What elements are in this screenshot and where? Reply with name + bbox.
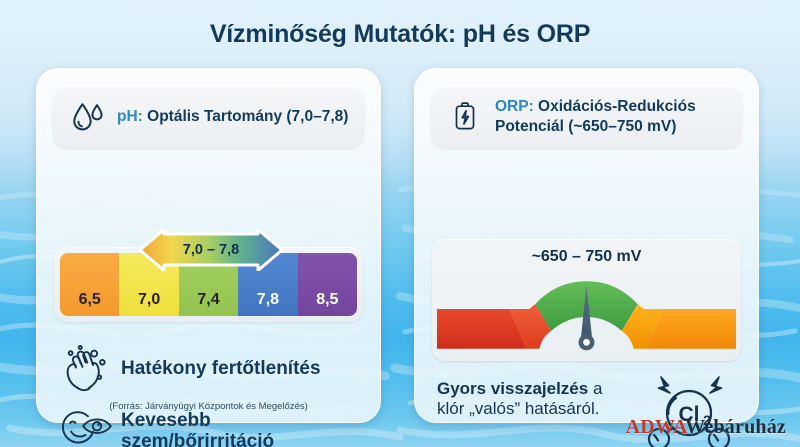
orp-note: Gyors visszajelzés a klór „valós” hatásá… — [437, 379, 632, 420]
page-title: Vízminőség Mutatók: pH és ORP — [0, 20, 800, 49]
list-item: Hatékony fertőtlenítés — [57, 343, 366, 395]
battery-bolt-icon — [445, 96, 485, 138]
orp-note-bold: Gyors visszajelzés — [437, 379, 588, 398]
ph-segment-label: 6,5 — [79, 291, 101, 309]
ph-segment-label: 7,4 — [197, 291, 219, 309]
orp-gauge-label: ~650 – 750 mV — [432, 248, 741, 266]
ph-header-chip: pH: Optális Tartomány (7,0–7,8) — [53, 86, 364, 148]
ph-panel: pH: Optális Tartomány (7,0–7,8) 6,5 7,0 … — [36, 68, 381, 423]
ph-scale-container: 6,5 7,0 7,4 7,8 8,5 — [54, 247, 363, 322]
orp-gauge-container: ~650 – 750 mV — [432, 239, 741, 361]
orp-header-chip: ORP: Oxidációs-Redukciós Potenciál (~650… — [431, 86, 742, 148]
orp-header-accent: ORP: — [495, 98, 534, 115]
watermark-brand: ADWA — [626, 416, 686, 438]
ph-header-accent: pH: — [117, 108, 143, 125]
washing-hands-icon — [57, 343, 115, 395]
source-note: (Forrás: Járványügyi Központok és Megelő… — [37, 401, 380, 412]
ph-segment: 6,5 — [60, 253, 119, 316]
ph-header-text: pH: Optális Tartomány (7,0–7,8) — [117, 107, 348, 127]
ph-segment-label: 7,0 — [138, 291, 160, 309]
orp-gauge — [432, 271, 741, 359]
ph-benefits-list: Hatékony fertőtlenítés Kevesebb szem/bőr… — [57, 343, 366, 447]
infographic-canvas: Vízminőség Mutatók: pH és ORP pH: Optáli… — [0, 0, 800, 447]
watermark-suffix: Webáruház — [685, 416, 786, 438]
ph-segment-label: 7,8 — [257, 291, 279, 309]
ph-optimal-range-arrow — [136, 229, 286, 271]
ph-header-rest: Optális Tartomány (7,0–7,8) — [143, 108, 349, 125]
brand-watermark: ADWAWebáruház — [626, 416, 786, 439]
list-item-label: Hatékony fertőtlenítés — [121, 358, 321, 379]
ph-segment-label: 8,5 — [316, 291, 338, 309]
orp-panel: ORP: Oxidációs-Redukciós Potenciál (~650… — [414, 68, 759, 423]
water-droplet-icon — [67, 96, 107, 138]
ph-segment: 8,5 — [298, 253, 357, 316]
list-item-label: Kevesebb szem/bőrirritáció — [121, 410, 366, 447]
orp-header-text: ORP: Oxidációs-Redukciós Potenciál (~650… — [495, 97, 730, 137]
